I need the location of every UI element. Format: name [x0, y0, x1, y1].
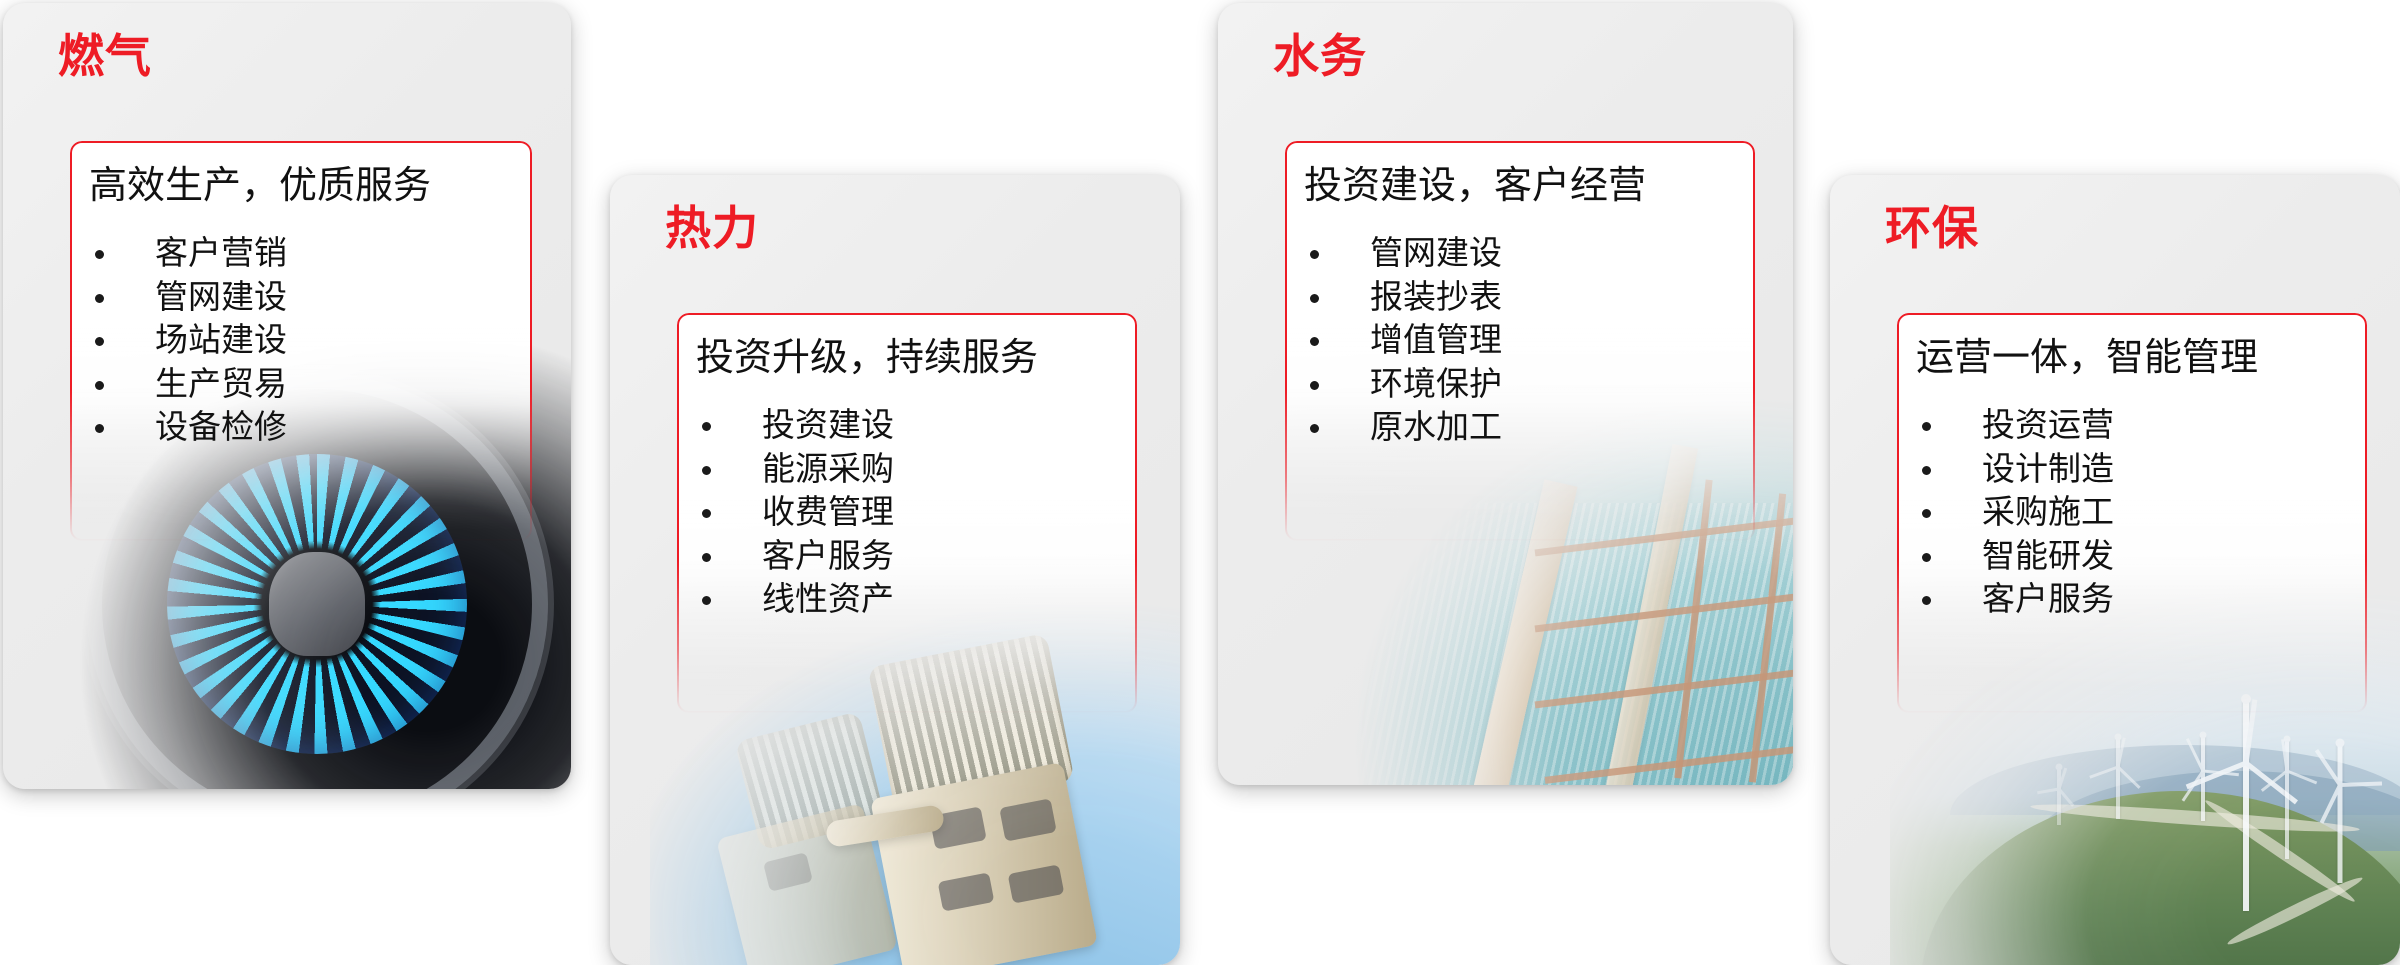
- business-card-water[interactable]: 水务 投资建设，客户经营 管网建设 报装抄表 增值管理 环境保护 原水加工: [1218, 3, 1793, 785]
- list-item: 环境保护: [1308, 362, 1502, 406]
- basin-rail-shape: [1749, 493, 1786, 782]
- card-title-gas: 燃气: [58, 33, 152, 79]
- list-item: 投资建设: [700, 403, 894, 447]
- card-title-enviro: 环保: [1885, 205, 1979, 251]
- list-item: 线性资产: [700, 577, 894, 621]
- wind-turbine-icon: [2210, 699, 2282, 911]
- list-item: 投资运营: [1920, 403, 2114, 447]
- card-title-water: 水务: [1273, 33, 1367, 79]
- equipment-window-shape: [938, 872, 995, 911]
- list-item: 客户营销: [93, 231, 287, 275]
- basin-rail-shape: [1535, 669, 1793, 709]
- list-item: 客户服务: [1920, 577, 2114, 621]
- list-item: 管网建设: [1308, 231, 1502, 275]
- list-item: 报装抄表: [1308, 275, 1502, 319]
- hill-road-shape: [2030, 800, 2360, 837]
- business-card-heat[interactable]: 热力 投资升级，持续服务 投资建设 能源采购 收费管理 客户服务 线性资产: [610, 175, 1180, 965]
- list-item: 管网建设: [93, 275, 287, 319]
- hill-road-shape: [2202, 796, 2358, 907]
- wind-turbine-icon: [2310, 743, 2370, 883]
- list-item: 生产贸易: [93, 362, 287, 406]
- cards-stage: 燃气 高效生产，优质服务 客户营销 管网建设 场站建设 生产贸易 设备检修: [0, 0, 2400, 955]
- list-item: 原水加工: [1308, 405, 1502, 449]
- list-item: 智能研发: [1920, 534, 2114, 578]
- card-title-heat: 热力: [665, 205, 759, 251]
- equipment-window-shape: [929, 806, 987, 849]
- list-item: 增值管理: [1308, 318, 1502, 362]
- bullet-list-enviro: 投资运营 设计制造 采购施工 智能研发 客户服务: [1920, 403, 2114, 621]
- list-item: 设计制造: [1920, 447, 2114, 491]
- wind-turbine-icon: [2176, 735, 2230, 821]
- equipment-arm-shape: [825, 804, 946, 848]
- water-surface-shape: [1338, 503, 1793, 785]
- equipment-window-shape: [999, 798, 1057, 841]
- distant-ridge-shape: [2030, 771, 2400, 851]
- headline-enviro: 运营一体，智能管理: [1916, 338, 2258, 380]
- headline-gas: 高效生产，优质服务: [89, 166, 431, 208]
- basin-rail-shape: [1535, 593, 1793, 633]
- list-item: 采购施工: [1920, 490, 2114, 534]
- bullet-list-water: 管网建设 报装抄表 增值管理 环境保护 原水加工: [1308, 231, 1502, 449]
- equipment-window-shape: [763, 852, 813, 892]
- list-item: 场站建设: [93, 318, 287, 362]
- list-item: 收费管理: [700, 490, 894, 534]
- foreground-hill-shape: [1920, 791, 2400, 965]
- equipment-stack-shape: [870, 762, 1098, 965]
- headline-water: 投资建设，客户经营: [1304, 166, 1646, 208]
- wind-turbine-icon: [2042, 767, 2076, 825]
- equipment-stack-shape: [716, 803, 898, 965]
- wind-turbine-icon: [2264, 739, 2310, 859]
- bullet-list-gas: 客户营销 管网建设 场站建设 生产贸易 设备检修: [93, 231, 287, 449]
- equipment-window-shape: [1008, 864, 1065, 903]
- hill-road-shape: [2225, 873, 2365, 950]
- equipment-coil-shape: [734, 711, 885, 851]
- business-card-gas[interactable]: 燃气 高效生产，优质服务 客户营销 管网建设 场站建设 生产贸易 设备检修: [3, 3, 571, 789]
- list-item: 能源采购: [700, 447, 894, 491]
- headline-heat: 投资升级，持续服务: [696, 338, 1038, 380]
- business-card-enviro[interactable]: 环保 运营一体，智能管理 投资运营 设计制造 采购施工 智能研发 客户服务: [1830, 175, 2400, 965]
- distant-ridge-shape: [1950, 745, 2400, 815]
- basin-rail-shape: [1545, 745, 1793, 784]
- list-item: 设备检修: [93, 405, 287, 449]
- bullet-list-heat: 投资建设 能源采购 收费管理 客户服务 线性资产: [700, 403, 894, 621]
- wind-turbine-icon: [2096, 737, 2140, 819]
- burner-core-shape: [269, 552, 365, 656]
- list-item: 客户服务: [700, 534, 894, 578]
